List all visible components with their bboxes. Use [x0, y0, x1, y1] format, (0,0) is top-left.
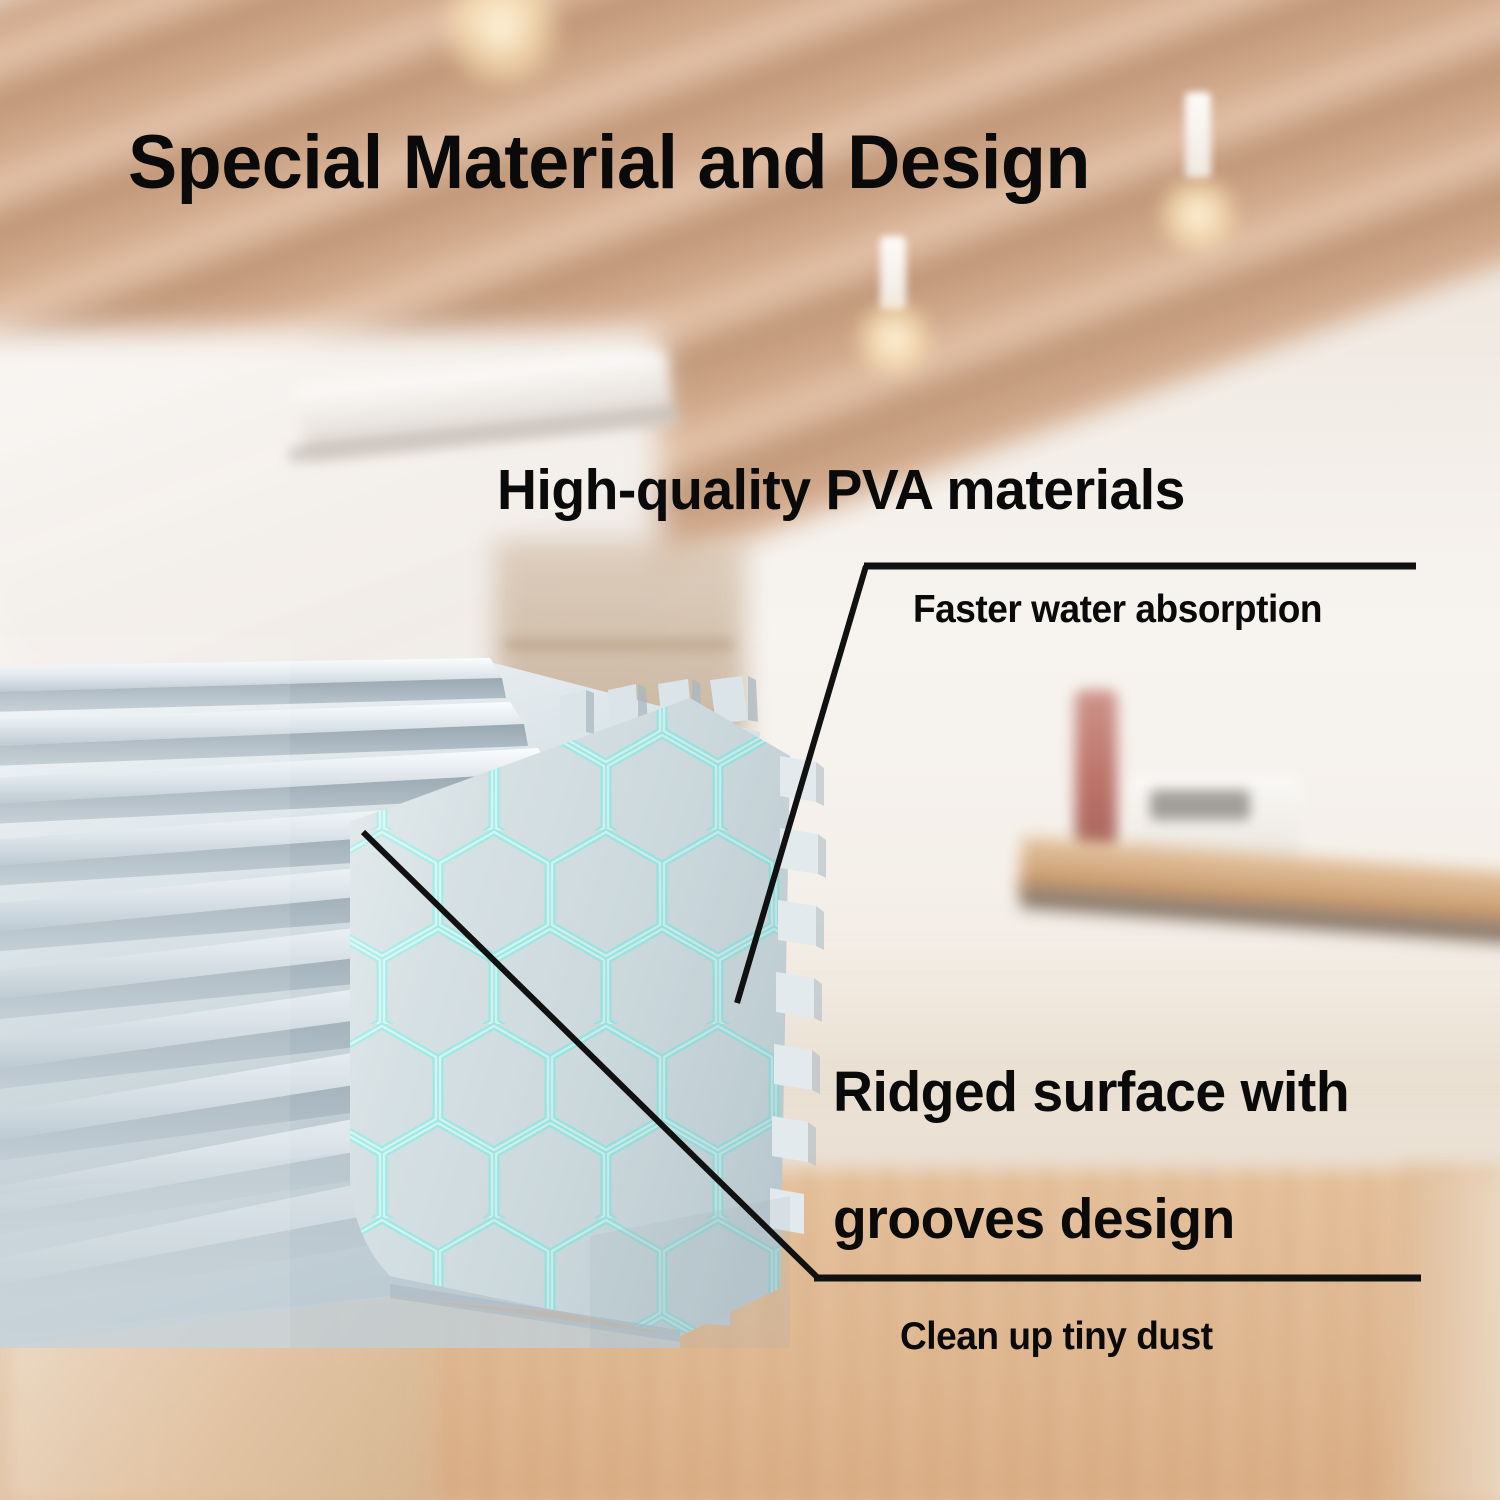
- pendant-lamp-1-glow: [1150, 175, 1246, 255]
- callout-headline-pva: High-quality PVA materials: [497, 457, 1185, 523]
- callout-subtext-pva: Faster water absorption: [913, 588, 1322, 632]
- wood-panel-right: [1400, 1170, 1500, 1500]
- appliance-panel: [1150, 790, 1250, 820]
- red-appliance: [1075, 690, 1117, 850]
- callout-subtext-grooves: Clean up tiny dust: [900, 1315, 1213, 1359]
- sponge-right-edge-shading: [808, 762, 826, 1166]
- pendant-lamp-1: [1185, 92, 1211, 178]
- pendant-lamp-2: [880, 236, 906, 310]
- callout-headline-grooves-line1: Ridged surface with: [833, 1059, 1349, 1125]
- pva-sponge-block: [0, 636, 910, 1348]
- pendant-lamp-2-glow: [848, 300, 940, 378]
- product-feature-image: Special Material and Design High-quality…: [0, 0, 1500, 1500]
- page-title: Special Material and Design: [128, 119, 1090, 206]
- callout-headline-grooves-line2: grooves design: [833, 1186, 1235, 1252]
